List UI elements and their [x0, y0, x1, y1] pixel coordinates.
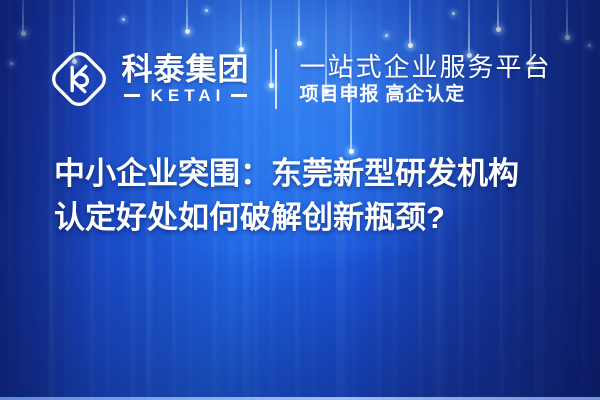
- brand-lockup: 科泰集团 KETAI: [48, 48, 249, 110]
- ketai-diamond-kp-logo-icon: [48, 48, 110, 110]
- slogan-block: 一站式企业服务平台 项目申报 高企认定: [299, 54, 551, 104]
- slogan-sub: 项目申报 高企认定: [299, 85, 551, 104]
- headline-line-2: 认定好处如何破解创新瓶颈?: [54, 196, 570, 240]
- brand-dash-left-icon: [124, 94, 140, 97]
- brand-name-en-row: KETAI: [124, 87, 248, 104]
- promo-banner: 科泰集团 KETAI 一站式企业服务平台 项目申报 高企认定 中小企业突围：东莞…: [0, 0, 600, 400]
- slogan-main: 一站式企业服务平台: [299, 54, 551, 80]
- banner-header: 科泰集团 KETAI 一站式企业服务平台 项目申报 高企认定: [0, 38, 600, 120]
- headline-block: 中小企业突围：东莞新型研发机构 认定好处如何破解创新瓶颈?: [54, 152, 570, 240]
- brand-name-cn: 科泰集团: [121, 54, 249, 85]
- brand-dash-right-icon: [231, 94, 247, 97]
- header-divider: [275, 49, 277, 109]
- brand-text: 科泰集团 KETAI: [121, 54, 249, 104]
- brand-name-en: KETAI: [146, 87, 226, 104]
- headline-line-1: 中小企业突围：东莞新型研发机构: [54, 152, 570, 196]
